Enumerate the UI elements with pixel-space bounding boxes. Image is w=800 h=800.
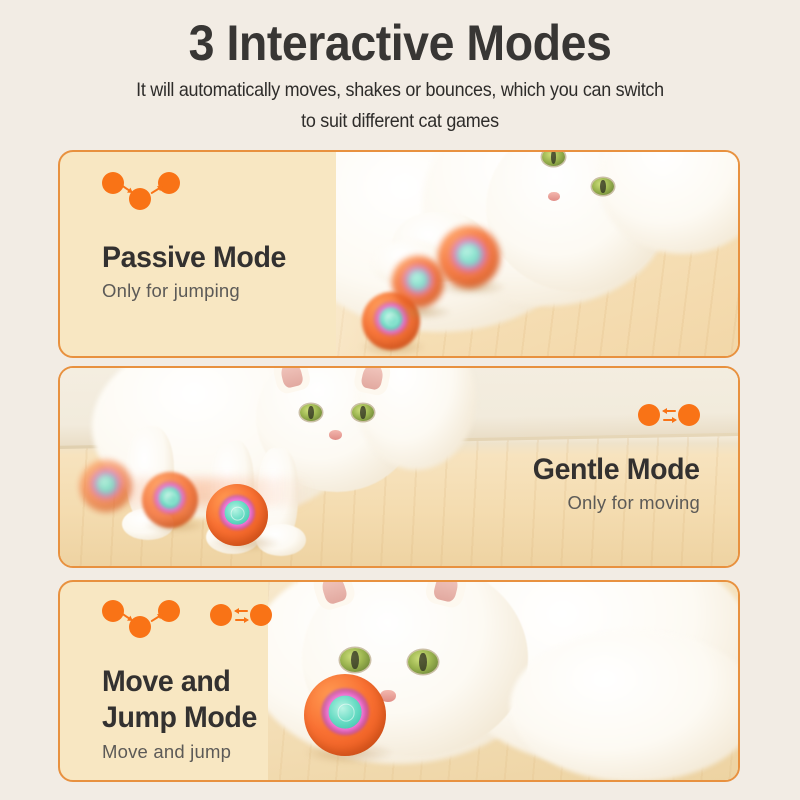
toy-ball xyxy=(80,460,132,512)
mode-icon-row xyxy=(524,402,700,428)
mode-icon-row xyxy=(102,600,272,638)
page-header: 3 Interactive Modes It will automaticall… xyxy=(0,0,800,150)
mode-card-gentle[interactable]: Gentle Mode Only for moving xyxy=(58,366,740,568)
mode-card-passive[interactable]: Passive Mode Only for jumping xyxy=(58,150,740,358)
toy-ball xyxy=(142,472,198,528)
mode-description-passive: Only for jumping xyxy=(102,279,296,303)
page-subtitle-line-2: to suit different cat games xyxy=(32,103,768,134)
page-title: 3 Interactive Modes xyxy=(28,0,772,72)
toy-ball xyxy=(206,484,268,546)
jump-icon xyxy=(102,172,180,210)
mode-name-move-and-jump: Move and Jump Mode xyxy=(102,664,264,736)
mode-card-move-and-jump[interactable]: Move and Jump Mode Move and jump xyxy=(58,580,740,782)
mode-icon-row xyxy=(102,172,296,210)
mode-info-gentle: Gentle Mode Only for moving xyxy=(524,402,700,515)
mode-info-passive: Passive Mode Only for jumping xyxy=(102,172,296,303)
toy-ball xyxy=(304,674,386,756)
mode-info-move-and-jump: Move and Jump Mode Move and jump xyxy=(102,600,272,764)
product-feature-page: 3 Interactive Modes It will automaticall… xyxy=(0,0,800,800)
mode-description-gentle: Only for moving xyxy=(524,491,700,515)
move-icon xyxy=(638,402,700,428)
move-icon xyxy=(210,602,272,628)
jump-icon xyxy=(102,600,180,638)
mode-photo-passive xyxy=(336,152,738,356)
toy-ball xyxy=(438,226,500,288)
mode-description-move-and-jump: Move and jump xyxy=(102,740,272,764)
mode-name-gentle: Gentle Mode xyxy=(533,452,700,487)
mode-photo-move-and-jump xyxy=(268,582,738,780)
toy-ball xyxy=(392,256,444,308)
mode-name-passive: Passive Mode xyxy=(102,240,286,275)
page-subtitle-line-1: It will automatically moves, shakes or b… xyxy=(32,72,768,103)
